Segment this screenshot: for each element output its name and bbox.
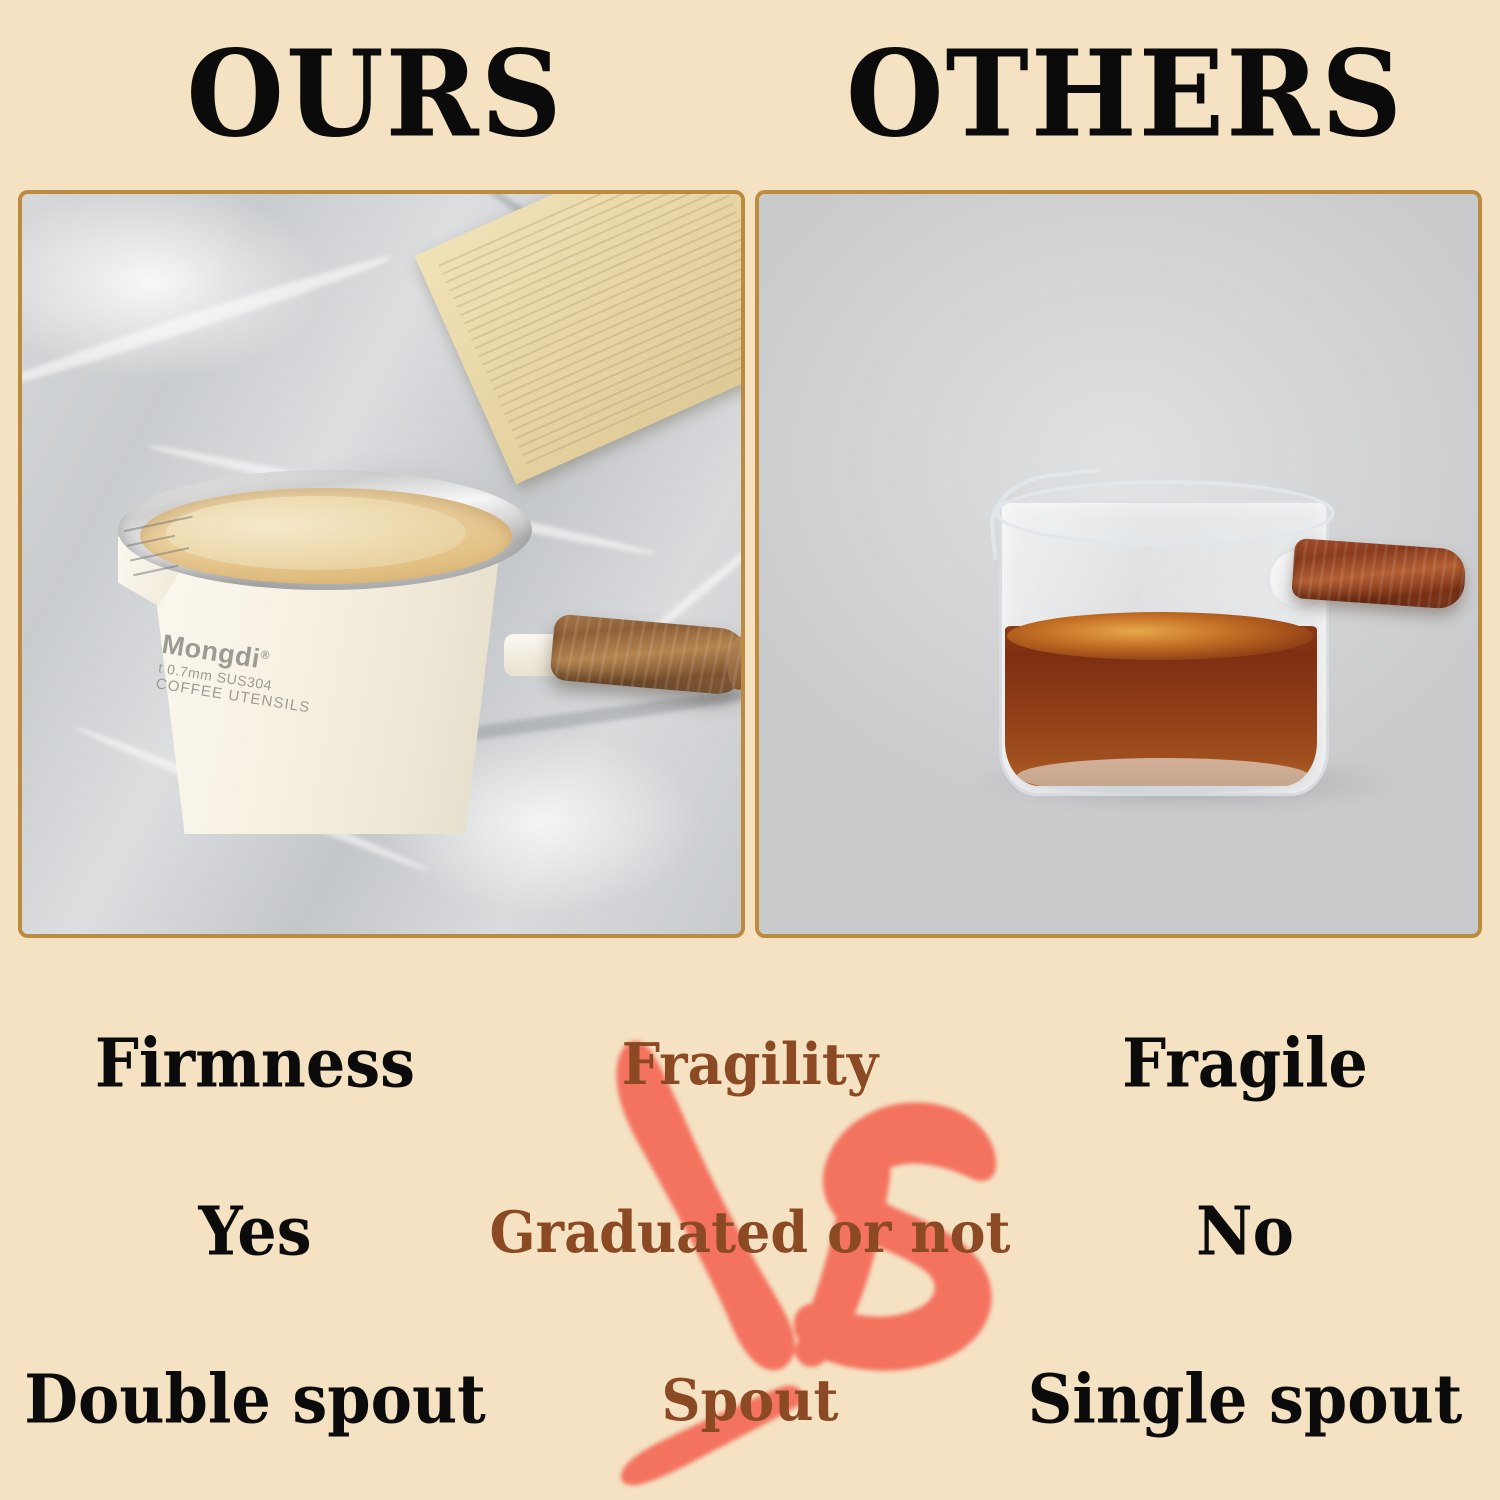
pitcher-crema [166, 496, 466, 570]
product-image-ours: Mongdi® t 0.7mm SUS304 COFFEE UTENSILS [100, 426, 700, 846]
photo-others [755, 190, 1482, 938]
attribute-label: Graduated or not [490, 1203, 1011, 1260]
glass-base [1017, 758, 1309, 794]
glass-coffee-surface [1007, 612, 1313, 660]
table-row: Firmness Fragility Fragile [0, 980, 1500, 1148]
glass-wooden-handle [1291, 538, 1467, 610]
cell-attribute: Spout [510, 1373, 990, 1427]
value-ours: Yes [198, 1199, 311, 1266]
heading-ours: OURS [186, 36, 563, 155]
cell-ours: Double spout [0, 1369, 510, 1431]
photo-ours: Mongdi® t 0.7mm SUS304 COFFEE UTENSILS [18, 190, 745, 938]
heading-cell-others: OTHERS [750, 0, 1500, 190]
glass-single-spout [985, 468, 1107, 559]
registered-icon: ® [260, 647, 271, 662]
table-row: Yes Graduated or not No [0, 1148, 1500, 1316]
handle-end-cap [725, 635, 745, 691]
value-others: Fragile [1122, 1031, 1368, 1098]
value-others: Single spout [1028, 1367, 1463, 1434]
attribute-label: Fragility [622, 1035, 878, 1092]
comparison-table: Firmness Fragility Fragile Yes Graduated… [0, 980, 1500, 1484]
attribute-label: Spout [662, 1371, 839, 1428]
value-others: No [1196, 1199, 1294, 1266]
heading-others: OTHERS [846, 36, 1404, 155]
value-ours: Firmness [95, 1031, 415, 1098]
value-ours: Double spout [24, 1367, 485, 1434]
headings-bar: OURS OTHERS [0, 0, 1500, 190]
cell-ours: Firmness [0, 1033, 510, 1095]
product-image-others [955, 440, 1425, 800]
cell-others: Single spout [990, 1369, 1500, 1431]
cell-attribute: Graduated or not [510, 1205, 990, 1259]
table-row: Double spout Spout Single spout [0, 1316, 1500, 1484]
heading-cell-ours: OURS [0, 0, 750, 190]
photo-panels: Mongdi® t 0.7mm SUS304 COFFEE UTENSILS [18, 190, 1482, 938]
cell-others: No [990, 1201, 1500, 1263]
cell-ours: Yes [0, 1201, 510, 1263]
cell-attribute: Fragility [510, 1037, 990, 1091]
cell-others: Fragile [990, 1033, 1500, 1095]
